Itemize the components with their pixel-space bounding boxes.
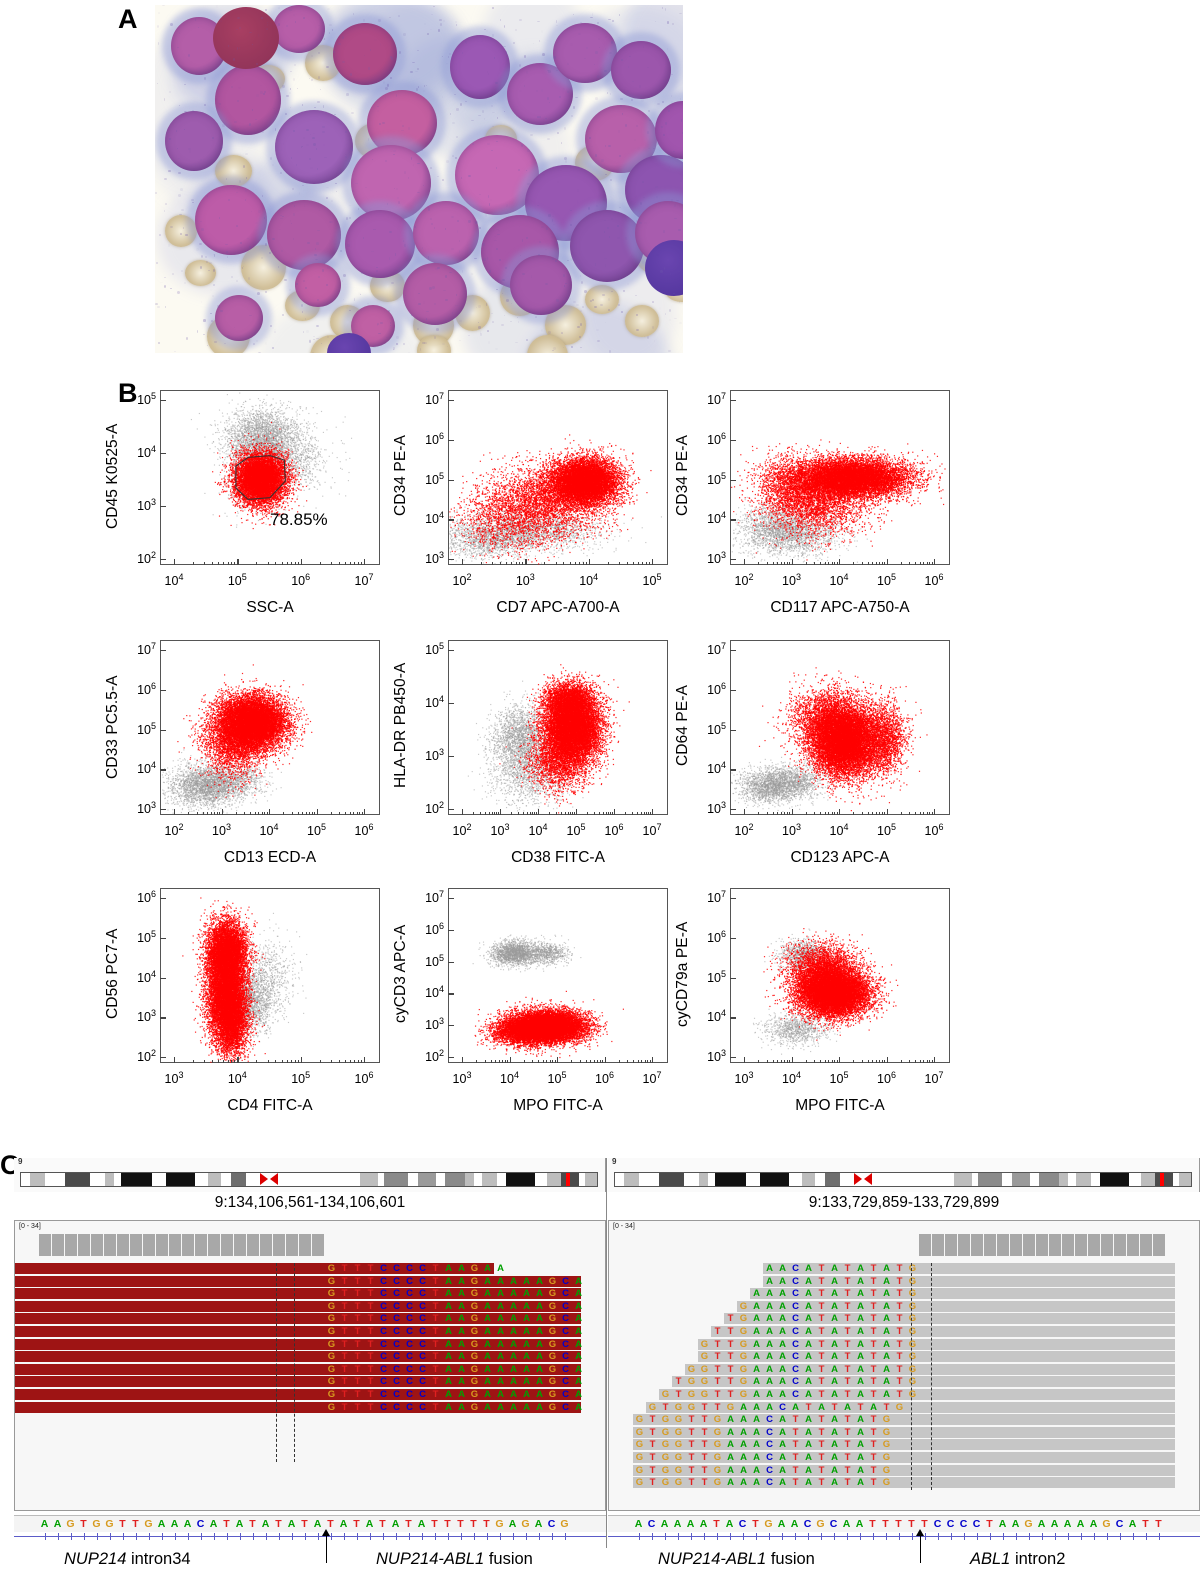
x-minor-tick [837, 1060, 838, 1064]
y-tick-mark [160, 650, 166, 651]
mismatch-base: A [507, 1376, 520, 1387]
x-minor-tick [862, 812, 863, 816]
x-minor-tick [546, 1060, 547, 1064]
ideogram-band [954, 1173, 972, 1186]
ruler-tick [227, 1533, 228, 1540]
reference-base: A [658, 1516, 671, 1532]
mismatch-base: T [815, 1389, 828, 1400]
panel-a-letter: A [118, 4, 138, 35]
mismatch-base: G [659, 1477, 672, 1488]
x-minor-tick [608, 812, 609, 816]
mismatch-base: A [520, 1313, 533, 1324]
mismatch-base: G [711, 1477, 724, 1488]
mismatch-base: A [533, 1288, 546, 1299]
x-minor-tick [275, 1060, 276, 1064]
ruler-tick [886, 1533, 887, 1540]
x-tick-label: 107 [630, 822, 674, 838]
mismatch-base: A [481, 1389, 494, 1400]
y-tick-label: 104 [118, 969, 156, 985]
mismatch-base: T [841, 1313, 854, 1324]
mismatch-base: A [455, 1263, 468, 1274]
mismatch-base: A [481, 1376, 494, 1387]
x-minor-tick [357, 812, 358, 816]
x-minor-tick [627, 562, 628, 566]
y-tick-label: 103 [406, 1016, 444, 1032]
ruler-tick [704, 1533, 705, 1540]
ruler-tick [925, 1533, 926, 1540]
mismatch-base: A [507, 1402, 520, 1413]
x-minor-tick [929, 812, 930, 816]
mismatch-base: C [390, 1339, 403, 1350]
mismatch-base: A [854, 1364, 867, 1375]
mismatch-base: G [672, 1402, 685, 1413]
ideogram-band [1173, 1173, 1180, 1186]
x-minor-tick [331, 562, 332, 566]
mismatch-base: G [325, 1263, 338, 1274]
y-tick-mark [448, 1057, 454, 1058]
mismatch-base: C [789, 1263, 802, 1274]
mismatch-base: T [841, 1376, 854, 1387]
insertion-marker [911, 1263, 912, 1490]
mismatch-base: C [403, 1263, 416, 1274]
reference-base: G [103, 1516, 116, 1532]
mismatch-base: C [789, 1351, 802, 1362]
ruler-tick [123, 1533, 124, 1540]
ideogram-bands[interactable] [614, 1172, 1192, 1187]
ideogram-bands[interactable] [20, 1172, 598, 1187]
x-minor-tick [298, 1060, 299, 1064]
mismatch-base: G [698, 1351, 711, 1362]
mismatch-base: C [416, 1339, 429, 1350]
x-tick-label: 103 [503, 572, 547, 588]
x-tick-label: 106 [583, 1070, 627, 1086]
ideogram-band [715, 1173, 746, 1186]
y-tick-mark [448, 703, 454, 704]
x-minor-tick [909, 562, 910, 566]
x-minor-tick [641, 812, 642, 816]
mismatch-base: A [442, 1351, 455, 1362]
ruler-tick [331, 1533, 332, 1540]
mismatch-base: C [390, 1376, 403, 1387]
ruler-tick [45, 1533, 46, 1540]
mismatch-base: G [546, 1339, 559, 1350]
x-minor-tick [218, 562, 219, 566]
coverage-bar [1114, 1234, 1126, 1256]
mismatch-base: A [802, 1313, 815, 1324]
x-tick-label: 104 [817, 822, 861, 838]
y-tick-label: 104 [118, 760, 156, 776]
mismatch-base: A [802, 1376, 815, 1387]
mismatch-base: T [711, 1364, 724, 1375]
reference-base: T [220, 1516, 233, 1532]
x-tick-label: 106 [912, 572, 956, 588]
mismatch-base: G [468, 1263, 481, 1274]
mismatch-base: A [880, 1313, 893, 1324]
alignment-track[interactable]: [0 - 34]GTTTCCCCTAAGAAGTTTCCCCTAAGAAAAAG… [14, 1220, 606, 1511]
mismatch-base: T [724, 1376, 737, 1387]
mismatch-base: A [828, 1313, 841, 1324]
x-minor-tick [862, 1060, 863, 1064]
mismatch-base: T [893, 1288, 906, 1299]
x-minor-tick [868, 812, 869, 816]
mismatch-base: T [646, 1427, 659, 1438]
x-minor-tick [884, 562, 885, 566]
mismatch-base: A [455, 1351, 468, 1362]
x-minor-tick [570, 562, 571, 566]
y-tick-label: 103 [406, 550, 444, 566]
x-minor-tick [773, 812, 774, 816]
ruler-tick [266, 1533, 267, 1540]
mismatch-base: A [724, 1414, 737, 1425]
x-minor-tick [814, 562, 815, 566]
mismatch-base: T [364, 1376, 377, 1387]
ideogram-band [1141, 1173, 1155, 1186]
x-minor-tick [522, 562, 523, 566]
mismatch-base: T [893, 1301, 906, 1312]
x-tick-mark [269, 809, 270, 815]
x-tick-mark [364, 809, 365, 815]
x-minor-tick [492, 562, 493, 566]
y-tick-mark [160, 938, 166, 939]
x-axis-label: CD38 FITC-A [448, 849, 668, 867]
ideogram-position-marker [1160, 1173, 1164, 1186]
mismatch-base: T [841, 1276, 854, 1287]
x-tick-mark [576, 809, 577, 815]
x-minor-tick [923, 562, 924, 566]
reference-base: A [363, 1516, 376, 1532]
ruler-tick [782, 1533, 783, 1540]
x-minor-tick [781, 812, 782, 816]
alignment-track[interactable]: [0 - 34]AACATATATATGAACATATATATGAAACATAT… [608, 1220, 1200, 1511]
ruler-tick [565, 1533, 566, 1540]
x-minor-tick [814, 1060, 815, 1064]
mismatch-base: A [533, 1326, 546, 1337]
mismatch-base: C [377, 1263, 390, 1274]
locus-coordinates: 9:133,729,859-133,729,899 [608, 1194, 1200, 1212]
x-minor-tick [638, 562, 639, 566]
mismatch-base: T [351, 1276, 364, 1287]
mismatch-base: A [572, 1364, 585, 1375]
mismatch-base: G [325, 1301, 338, 1312]
y-tick-label: 107 [688, 889, 726, 905]
x-minor-tick [610, 812, 611, 816]
x-minor-tick [599, 812, 600, 816]
x-minor-tick [915, 562, 916, 566]
centromere-right-icon [270, 1173, 278, 1185]
mismatch-base: A [776, 1414, 789, 1425]
x-minor-tick [339, 562, 340, 566]
reference-base: A [259, 1516, 272, 1532]
mismatch-base: T [867, 1414, 880, 1425]
mismatch-base: A [481, 1288, 494, 1299]
y-tick-label: 105 [406, 953, 444, 969]
x-minor-tick [223, 1060, 224, 1064]
x-minor-tick [920, 1060, 921, 1064]
x-tick-label: 104 [817, 572, 861, 588]
mismatch-base: G [906, 1364, 919, 1375]
reference-base: C [970, 1516, 983, 1532]
mismatch-base: A [750, 1414, 763, 1425]
mismatch-base: G [906, 1288, 919, 1299]
coverage-bar [299, 1234, 311, 1256]
mismatch-base: C [416, 1402, 429, 1413]
y-tick-label: 106 [688, 681, 726, 697]
mismatch-base: G [737, 1376, 750, 1387]
mismatch-base: A [724, 1465, 737, 1476]
mismatch-base: A [763, 1313, 776, 1324]
x-minor-tick [853, 1060, 854, 1064]
x-minor-tick [339, 1060, 340, 1064]
mismatch-base: G [906, 1389, 919, 1400]
mismatch-base: G [468, 1313, 481, 1324]
mismatch-base: A [737, 1477, 750, 1488]
x-minor-tick [499, 1060, 500, 1064]
coverage-bar [1088, 1234, 1100, 1256]
y-tick-label: 103 [406, 747, 444, 763]
reference-base: A [684, 1516, 697, 1532]
x-minor-tick [832, 1060, 833, 1064]
mismatch-base: T [867, 1465, 880, 1476]
mismatch-base: A [750, 1301, 763, 1312]
coverage-bar [1101, 1234, 1113, 1256]
mismatch-base: T [815, 1477, 828, 1488]
mismatch-base: A [854, 1276, 867, 1287]
mismatch-base: T [893, 1376, 906, 1387]
x-tick-label: 107 [912, 1070, 956, 1086]
x-tick-label: 102 [440, 572, 484, 588]
mismatch-base: T [789, 1427, 802, 1438]
coverage-bar [1127, 1234, 1139, 1256]
y-tick-mark [160, 730, 166, 731]
y-tick-mark [448, 809, 454, 810]
x-minor-tick [872, 812, 873, 816]
x-tick-mark [792, 559, 793, 565]
y-tick-label: 106 [406, 431, 444, 447]
mismatch-base: C [789, 1313, 802, 1324]
ideogram-band [360, 1173, 378, 1186]
mismatch-base: A [867, 1402, 880, 1413]
reference-base: T [480, 1516, 493, 1532]
x-minor-tick [234, 1060, 235, 1064]
mismatch-base: C [390, 1364, 403, 1375]
mismatch-base: G [659, 1427, 672, 1438]
ruler-tick [188, 1533, 189, 1540]
mismatch-base: A [455, 1339, 468, 1350]
mismatch-base: A [828, 1364, 841, 1375]
x-tick-label: 102 [722, 572, 766, 588]
reference-base: A [168, 1516, 181, 1532]
mismatch-base: T [815, 1465, 828, 1476]
ideogram-band [105, 1173, 114, 1186]
x-minor-tick [572, 812, 573, 816]
y-axis-label: cyCD3 APC-A [392, 924, 410, 1022]
mismatch-base: G [468, 1339, 481, 1350]
reference-base: A [788, 1516, 801, 1532]
x-tick-mark [744, 1057, 745, 1063]
ruler-tick [253, 1533, 254, 1540]
x-minor-tick [550, 1060, 551, 1064]
x-minor-tick [767, 1060, 768, 1064]
mismatch-base: G [906, 1301, 919, 1312]
mismatch-base: G [672, 1427, 685, 1438]
mismatch-base: G [633, 1465, 646, 1476]
x-minor-tick [587, 812, 588, 816]
y-tick-label: 104 [688, 760, 726, 776]
mismatch-base: G [468, 1389, 481, 1400]
mismatch-base: G [325, 1389, 338, 1400]
mismatch-base: T [841, 1414, 854, 1425]
mismatch-base: G [633, 1427, 646, 1438]
mismatch-base: G [468, 1376, 481, 1387]
x-minor-tick [600, 1060, 601, 1064]
mismatch-base: T [429, 1351, 442, 1362]
x-minor-tick [832, 562, 833, 566]
mismatch-base: A [724, 1427, 737, 1438]
mismatch-base: T [841, 1389, 854, 1400]
mismatch-base: C [416, 1301, 429, 1312]
mismatch-base: A [828, 1326, 841, 1337]
mismatch-base: A [802, 1326, 815, 1337]
mismatch-base: C [403, 1301, 416, 1312]
coverage-bar [143, 1234, 155, 1256]
x-minor-tick [923, 1060, 924, 1064]
y-tick-mark [730, 519, 736, 520]
mismatch-base: A [880, 1339, 893, 1350]
mismatch-base: T [338, 1364, 351, 1375]
y-tick-mark [160, 559, 166, 560]
mismatch-base: A [442, 1263, 455, 1274]
x-minor-tick [511, 562, 512, 566]
mismatch-base: T [429, 1288, 442, 1299]
ideogram-band [166, 1173, 195, 1186]
mismatch-base: T [685, 1439, 698, 1450]
mismatch-base: G [711, 1439, 724, 1450]
mismatch-base: G [893, 1402, 906, 1413]
x-minor-tick [876, 1060, 877, 1064]
reference-base: C [957, 1516, 970, 1532]
centromere-left-icon [854, 1173, 862, 1185]
x-axis-label: CD123 APC-A [730, 849, 950, 867]
mismatch-base: A [481, 1402, 494, 1413]
ideogram-band [1012, 1173, 1029, 1186]
reference-base: A [1035, 1516, 1048, 1532]
x-tick-label: 105 [535, 1070, 579, 1086]
ruler-tick [474, 1533, 475, 1540]
ideogram-position-marker [566, 1173, 570, 1186]
ideogram-band [497, 1173, 506, 1186]
mismatch-base: A [507, 1313, 520, 1324]
x-minor-tick [563, 562, 564, 566]
ideogram-band [221, 1173, 230, 1186]
mismatch-base: C [377, 1351, 390, 1362]
mismatch-base: A [776, 1301, 789, 1312]
ruler-tick [756, 1533, 757, 1540]
x-tick-label: 104 [567, 572, 611, 588]
reference-base: C [827, 1516, 840, 1532]
mismatch-base: G [906, 1263, 919, 1274]
ruler-line [14, 1536, 606, 1537]
mismatch-base: A [880, 1389, 893, 1400]
y-tick-mark [160, 809, 166, 810]
mismatch-base: A [841, 1402, 854, 1413]
mismatch-base: A [442, 1339, 455, 1350]
mismatch-base: A [776, 1326, 789, 1337]
ideogram-band [535, 1173, 548, 1186]
mismatch-base: A [802, 1288, 815, 1299]
mismatch-base: G [468, 1288, 481, 1299]
mismatch-base: A [802, 1263, 815, 1274]
y-tick-mark [160, 1057, 166, 1058]
mismatch-base: C [789, 1339, 802, 1350]
mismatch-base: T [351, 1351, 364, 1362]
mismatch-base: T [351, 1389, 364, 1400]
mismatch-base: A [750, 1351, 763, 1362]
mismatch-base: A [737, 1439, 750, 1450]
y-tick-mark [730, 480, 736, 481]
mismatch-base: A [533, 1376, 546, 1387]
x-tick-mark [557, 1057, 558, 1063]
reference-base: A [1048, 1516, 1061, 1532]
mismatch-base: A [828, 1452, 841, 1463]
mismatch-base: A [776, 1364, 789, 1375]
mismatch-base: A [520, 1326, 533, 1337]
mismatch-base: A [455, 1402, 468, 1413]
x-minor-tick [519, 562, 520, 566]
reference-base: T [428, 1516, 441, 1532]
mismatch-base: A [776, 1339, 789, 1350]
x-tick-mark [462, 559, 463, 565]
x-tick-mark [792, 809, 793, 815]
mismatch-base: A [802, 1301, 815, 1312]
mismatch-base: C [416, 1288, 429, 1299]
reference-base: T [350, 1516, 363, 1532]
mismatch-base: A [455, 1364, 468, 1375]
mismatch-base: A [520, 1288, 533, 1299]
mismatch-base: G [685, 1402, 698, 1413]
x-minor-tick [920, 812, 921, 816]
x-minor-tick [784, 562, 785, 566]
mismatch-base: C [403, 1339, 416, 1350]
mismatch-base: G [698, 1389, 711, 1400]
x-minor-tick [255, 812, 256, 816]
x-minor-tick [203, 812, 204, 816]
x-minor-tick [207, 812, 208, 816]
x-tick-label: 104 [152, 572, 196, 588]
mismatch-base: A [494, 1301, 507, 1312]
x-minor-tick [306, 812, 307, 816]
x-tick-mark [744, 559, 745, 565]
mismatch-base: A [572, 1276, 585, 1287]
ruler-tick [808, 1533, 809, 1540]
mismatch-base: G [685, 1376, 698, 1387]
x-minor-tick [649, 562, 650, 566]
x-minor-tick [485, 812, 486, 816]
x-minor-tick [212, 1060, 213, 1064]
x-minor-tick [602, 1060, 603, 1064]
mismatch-base: A [507, 1276, 520, 1287]
y-tick-label: 103 [118, 1008, 156, 1024]
reference-base: A [181, 1516, 194, 1532]
ruler-line [608, 1536, 1200, 1537]
mismatch-base: A [750, 1477, 763, 1488]
mismatch-base: A [802, 1364, 815, 1375]
mismatch-base: A [442, 1276, 455, 1287]
x-minor-tick [834, 812, 835, 816]
reference-base: C [801, 1516, 814, 1532]
x-tick-mark [614, 809, 615, 815]
mismatch-base: C [763, 1439, 776, 1450]
y-tick-label: 102 [118, 1048, 156, 1064]
